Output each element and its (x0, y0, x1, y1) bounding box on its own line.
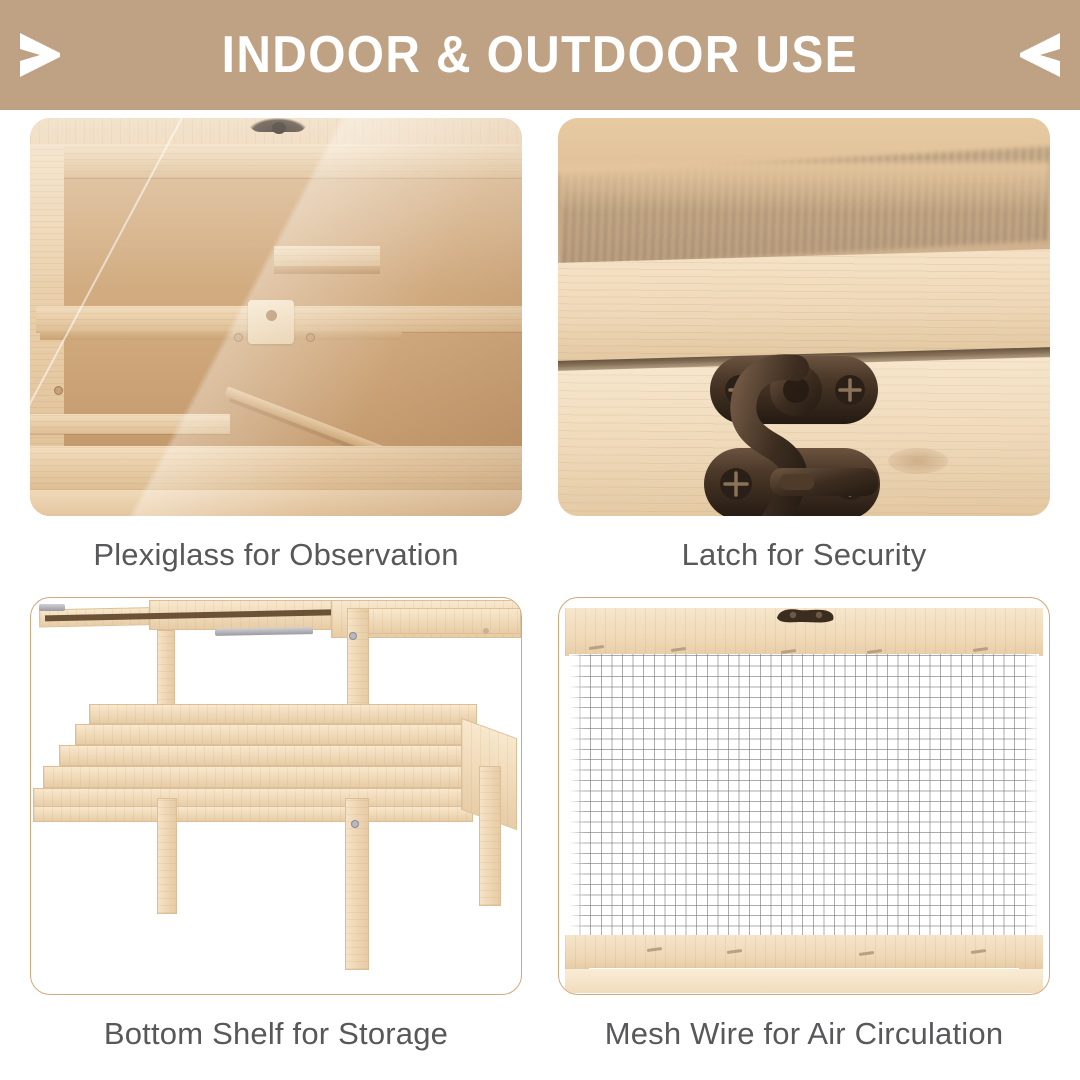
hutch-ledge-lip (274, 266, 380, 274)
page-title: INDOOR & OUTDOOR USE (222, 29, 858, 81)
security-latch-icon (558, 118, 1050, 516)
shelf-slat (75, 724, 479, 745)
panel-caption-bottom-shelf: Bottom Shelf for Storage (30, 1017, 522, 1051)
mesh-wire-photo (558, 597, 1050, 995)
chevron-right-icon (18, 27, 62, 83)
shelf-slat (59, 745, 479, 766)
hutch-latch-knob (266, 310, 277, 321)
chevron-left-icon (1018, 27, 1062, 83)
shelf-slat-group (41, 704, 501, 808)
hutch-ledge (274, 246, 380, 268)
latch-photo (558, 118, 1050, 516)
shelf-slat (33, 788, 479, 808)
screw-icon (483, 628, 489, 634)
shelf-leg-front-left (157, 798, 177, 914)
hutch-latch-plate (248, 300, 294, 344)
feature-panel-grid: Plexiglass for Observation (0, 110, 1080, 1080)
panel-caption-mesh-wire: Mesh Wire for Air Circulation (558, 1017, 1050, 1051)
hutch-bottom-rail (30, 446, 522, 490)
cabinet-hinge (39, 604, 65, 611)
hutch-top-rail (30, 144, 522, 178)
screw-icon (349, 632, 357, 640)
panel-caption-latch: Latch for Security (558, 538, 1050, 572)
mesh-left-fade (569, 654, 585, 937)
cabinet-hinge (215, 627, 313, 636)
hutch-base-board (30, 490, 522, 516)
bottom-shelf-photo (30, 597, 522, 995)
mesh-right-fade (1023, 654, 1039, 937)
hutch-lower-shelf (30, 414, 230, 434)
panel-caption-plexiglass: Plexiglass for Observation (30, 538, 522, 572)
mesh-frame-base-rail (565, 969, 1043, 993)
shelf-front-edge (33, 806, 473, 822)
hutch-hinge-pin (272, 122, 286, 134)
shelf-leg-back-far-right (479, 766, 501, 906)
wire-mesh-grid (569, 654, 1039, 937)
hutch-shelf-edge (40, 331, 402, 340)
feature-panel-plexiglass[interactable]: Plexiglass for Observation (30, 118, 522, 572)
header-banner: INDOOR & OUTDOOR USE (0, 0, 1080, 110)
shelf-slat (89, 704, 477, 724)
screw-icon (54, 386, 63, 395)
screw-icon (351, 820, 359, 828)
feature-panel-mesh-wire[interactable]: Mesh Wire for Air Circulation (558, 597, 1050, 1051)
shelf-slat (43, 766, 479, 788)
feature-panel-latch[interactable]: Latch for Security (558, 118, 1050, 572)
cabinet-side-rail (363, 608, 521, 634)
top-latch-icon (773, 606, 837, 626)
plexiglass-photo (30, 118, 522, 516)
screw-icon (234, 333, 243, 342)
feature-panel-bottom-shelf[interactable]: Bottom Shelf for Storage (30, 597, 522, 1051)
screw-icon (306, 333, 315, 342)
